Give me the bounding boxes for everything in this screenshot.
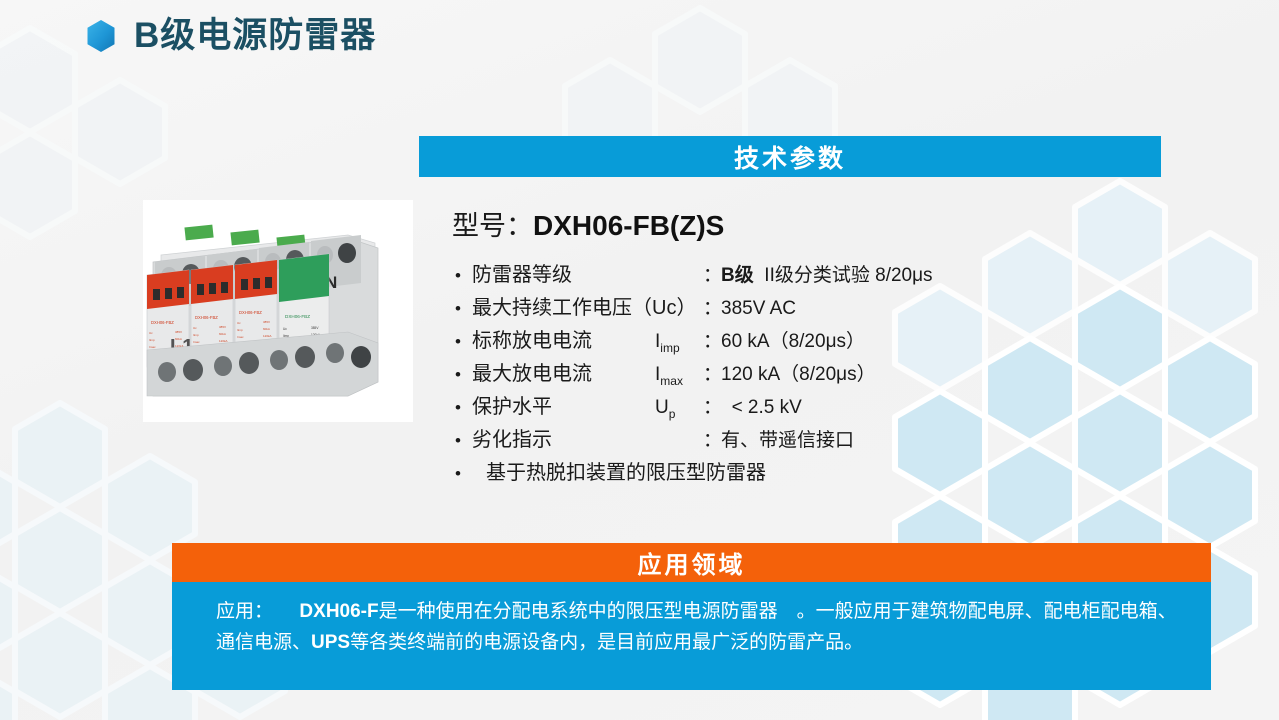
svg-text:60kA: 60kA — [219, 332, 226, 336]
spec-colon: ： — [703, 260, 721, 287]
list-bullet: • — [455, 432, 472, 449]
spec-value: B级 II级分类试验 8/20μs — [721, 260, 933, 287]
svg-text:DXH06-FBZ: DXH06-FBZ — [151, 320, 174, 325]
application-body: 应用： DXH06-F是一种使用在分配电系统中的限压型电源防雷器 。一般应用于建… — [172, 582, 1211, 690]
spec-name: 保护水平 — [472, 390, 655, 419]
svg-text:385V: 385V — [219, 325, 226, 329]
spec-row: • 基于热脱扣装置的限压型防雷器 — [455, 456, 1155, 489]
spec-row: • 保护水平 Up ： < 2.5 kV — [455, 390, 1155, 423]
application-header: 应用领域 — [172, 543, 1211, 582]
svg-text:DXH06-FBZ: DXH06-FBZ — [239, 310, 262, 315]
spec-name: 标称放电电流 — [472, 324, 655, 353]
svg-text:120kA: 120kA — [263, 334, 272, 338]
list-bullet: • — [455, 366, 472, 383]
svg-text:Imax: Imax — [193, 340, 200, 344]
list-bullet: • — [455, 399, 472, 416]
model-label: 型号： — [452, 204, 533, 243]
symbol-subscript: imp — [660, 341, 679, 355]
spec-colon: ： — [703, 293, 721, 320]
svg-text:Uc: Uc — [149, 331, 153, 335]
spec-name: 劣化指示 — [472, 423, 703, 452]
svg-text:Iimp: Iimp — [149, 338, 155, 342]
svg-text:Imax: Imax — [149, 345, 156, 349]
spec-value: 385V AC — [721, 298, 796, 320]
list-bullet: • — [455, 333, 472, 350]
svg-text:Imax: Imax — [237, 335, 244, 339]
spec-value: 120 kA（8/20μs） — [721, 359, 876, 386]
model-line: 型号： DXH06-FB(Z)S — [452, 204, 724, 243]
svg-text:DXH06-FBZ: DXH06-FBZ — [285, 314, 310, 319]
slide-header: B级电源防雷器 — [86, 18, 376, 53]
product-image: N DXH06-FBZ Uc385V Iimp60kA Im — [143, 200, 413, 422]
list-bullet: • — [455, 465, 472, 482]
spec-colon: ： — [703, 326, 721, 353]
tech-params-header: 技术参数 — [419, 136, 1161, 177]
svg-text:Uc: Uc — [237, 321, 241, 325]
spec-value-text: < 2.5 kV — [732, 397, 802, 418]
application-text: 应用： DXH06-F是一种使用在分配电系统中的限压型电源防雷器 。一般应用于建… — [216, 596, 1195, 658]
svg-text:60kA: 60kA — [263, 327, 270, 331]
symbol-subscript: max — [660, 374, 683, 388]
list-bullet: • — [455, 300, 472, 317]
spec-colon: ： — [703, 425, 721, 452]
tech-params-title: 技术参数 — [734, 139, 846, 175]
application-title: 应用领域 — [638, 545, 746, 580]
spec-value: 有、带遥信接口 — [721, 425, 854, 452]
list-bullet: • — [455, 267, 472, 284]
spec-symbol: Up — [655, 397, 703, 421]
page-title: B级电源防雷器 — [134, 18, 376, 53]
spec-row: • 标称放电电流 Iimp ： 60 kA（8/20μs） — [455, 324, 1155, 357]
application-line2-model: UPS — [311, 632, 350, 653]
spec-value-bold: B级 — [721, 265, 754, 286]
application-line1: 是一种使用在分配电系统中的限压型电源防雷器 。一般应用于建筑物配电屏、配电柜 — [379, 601, 1101, 622]
spec-symbol: Imax — [655, 364, 703, 388]
application-line2-b: 等各类终端前的电源设备内，是目前应用最广泛的防雷产品。 — [350, 632, 863, 653]
spec-symbol: Iimp — [655, 331, 703, 355]
spec-row: • 劣化指示 ： 有、带遥信接口 — [455, 423, 1155, 456]
symbol-base: U — [655, 397, 669, 418]
svg-text:Iimp: Iimp — [193, 333, 199, 337]
slide-canvas: B级电源防雷器 — [0, 0, 1279, 720]
svg-text:385V: 385V — [263, 320, 270, 324]
model-value: DXH06-FB(Z)S — [533, 210, 724, 242]
spec-name: 基于热脱扣装置的限压型防雷器 — [472, 456, 766, 485]
hexagon-icon — [86, 19, 116, 53]
svg-text:Uc: Uc — [283, 327, 287, 331]
spec-name: 最大放电电流 — [472, 357, 655, 386]
svg-text:Uc: Uc — [193, 326, 197, 330]
spec-value: < 2.5 kV — [721, 397, 802, 419]
spec-colon: ： — [703, 392, 721, 419]
spec-row: • 最大持续工作电压（Uc） ： 385V AC — [455, 291, 1155, 324]
svg-text:385V: 385V — [311, 326, 319, 330]
svg-text:Iimp: Iimp — [237, 328, 243, 332]
svg-text:385V: 385V — [175, 330, 182, 334]
svg-text:DXH06-FBZ: DXH06-FBZ — [195, 315, 218, 320]
spec-list: • 防雷器等级 ： B级 II级分类试验 8/20μs • 最大持续工作电压（U… — [455, 258, 1155, 489]
spec-name: 最大持续工作电压（Uc） — [472, 291, 703, 320]
spec-row: • 防雷器等级 ： B级 II级分类试验 8/20μs — [455, 258, 1155, 291]
spec-value: 60 kA（8/20μs） — [721, 326, 865, 353]
symbol-subscript: p — [669, 407, 676, 421]
spec-value-text: II级分类试验 8/20μs — [764, 265, 932, 286]
application-model: DXH06-F — [299, 601, 378, 622]
spec-row: • 最大放电电流 Imax ： 120 kA（8/20μs） — [455, 357, 1155, 390]
application-label: 应用： — [216, 601, 273, 622]
spec-colon: ： — [703, 359, 721, 386]
spec-name: 防雷器等级 — [472, 258, 703, 287]
